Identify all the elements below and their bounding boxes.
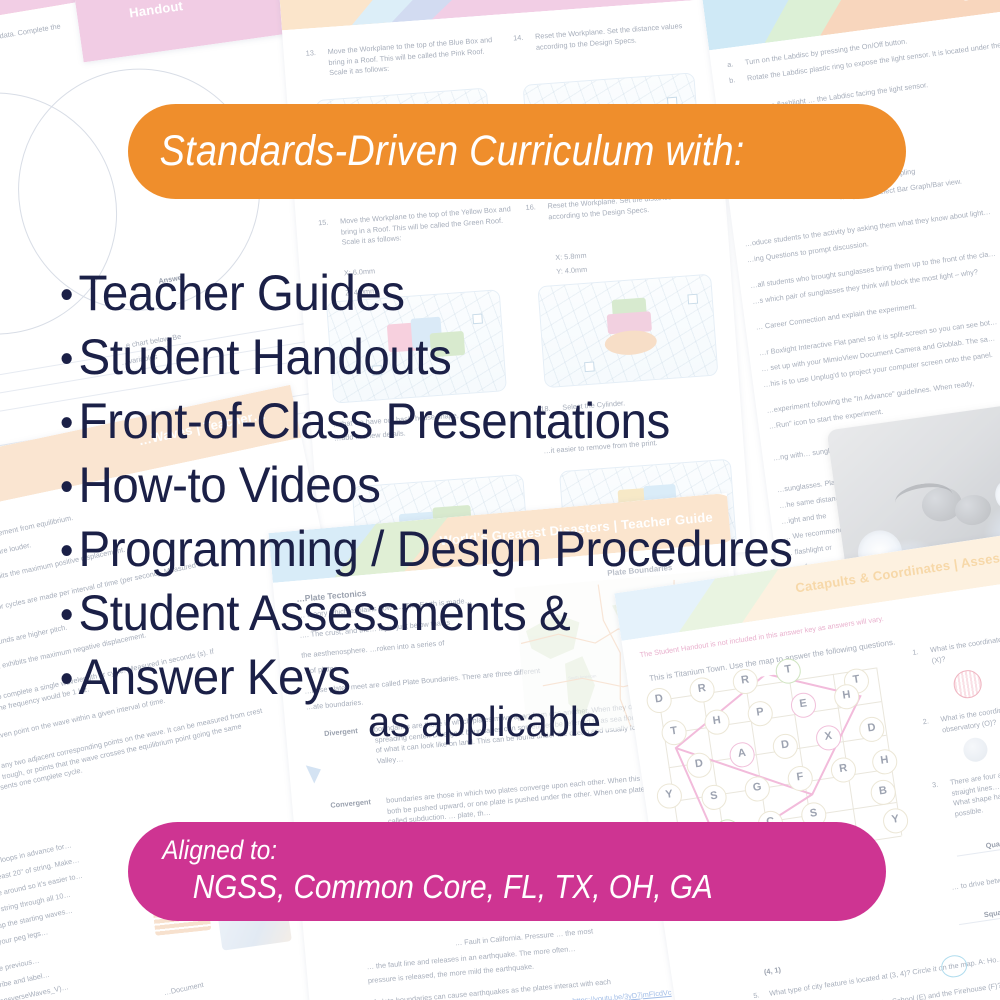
feature-note: as applicable [368,697,601,747]
step-number: 15. [318,218,329,229]
primary-banner-label: Standards-Driven Curriculum with: [128,127,745,176]
promo-graphic: apults …st the dot plot and histogram yo… [0,0,1000,1000]
feature-label: Student Handouts [79,329,452,385]
cursor-arrow-icon [306,760,325,783]
step-number: b. [729,75,736,86]
grid-node: D [771,732,799,760]
grid-node: Y [881,807,909,835]
bullet-icon: • [60,657,73,701]
circle-annotation-icon [940,953,969,979]
grid-node: Y [655,782,683,810]
feature-item: •Student Handouts [60,326,915,390]
grid-node: G [743,775,771,803]
question-number: 3. [932,780,940,791]
feature-label: Answer Keys [79,649,351,705]
step-number: 16. [525,202,536,213]
question-text: … to drive between those … as specific a… [951,858,1000,894]
bullet-icon: • [60,529,73,573]
bullet-icon: • [60,337,73,381]
question-text: There are four areas with… the city. Dra… [949,755,1000,820]
feature-item: •Programming / Design Procedures [60,518,915,582]
term: Convergent [330,797,371,811]
standards-banner-line2: NGSS, Common Core, FL, TX, OH, GA [128,866,713,907]
feature-item: •Student Assessments & [60,582,915,646]
grid-node: D [685,751,713,779]
feature-item: •How-to Videos [60,454,915,518]
step-number: a. [727,59,734,70]
feature-item: •Front-of-Class Presentations [60,390,915,454]
step-text: Move the Workplane to the top of the Yel… [340,204,514,248]
grid-node: S [700,783,728,811]
question-number: 5. [753,990,761,1000]
step-text: Reset the Workplane. Set the distance va… [535,20,701,53]
standards-banner: Aligned to: NGSS, Common Core, FL, TX, O… [128,822,886,921]
grid-node: F [786,764,814,792]
bullet-icon: • [60,465,73,509]
question-number: 2. [922,716,930,727]
observatory-icon [962,736,989,763]
standards-banner-line1: Aligned to: [128,836,277,866]
grid-node: X [814,724,842,752]
feature-label: Student Assessments & [79,585,571,641]
note: …Document [163,980,205,999]
feature-label: How-to Videos [79,457,381,513]
step-text: Move the Workplane to the top of the Blu… [327,35,501,79]
grid-node: R [829,756,857,784]
grid-node: A [728,741,756,769]
feature-label: Teacher Guides [79,265,405,321]
definition: Distance between any two adjacent corres… [0,705,271,805]
bullet-icon: • [60,401,73,445]
feature-label: Programming / Design Procedures [79,521,793,577]
bullet-icon: • [60,593,73,637]
term: Divergent [324,726,358,739]
step-number: 14. [513,33,524,44]
feature-label: Front-of-Class Presentations [79,393,670,449]
primary-banner: Standards-Driven Curriculum with: [128,104,906,199]
feature-item: •Teacher Guides [60,262,915,326]
bullet-icon: • [60,273,73,317]
answer-value: (4, 1) [763,965,781,978]
feature-list: •Teacher Guides •Student Handouts •Front… [60,262,960,710]
